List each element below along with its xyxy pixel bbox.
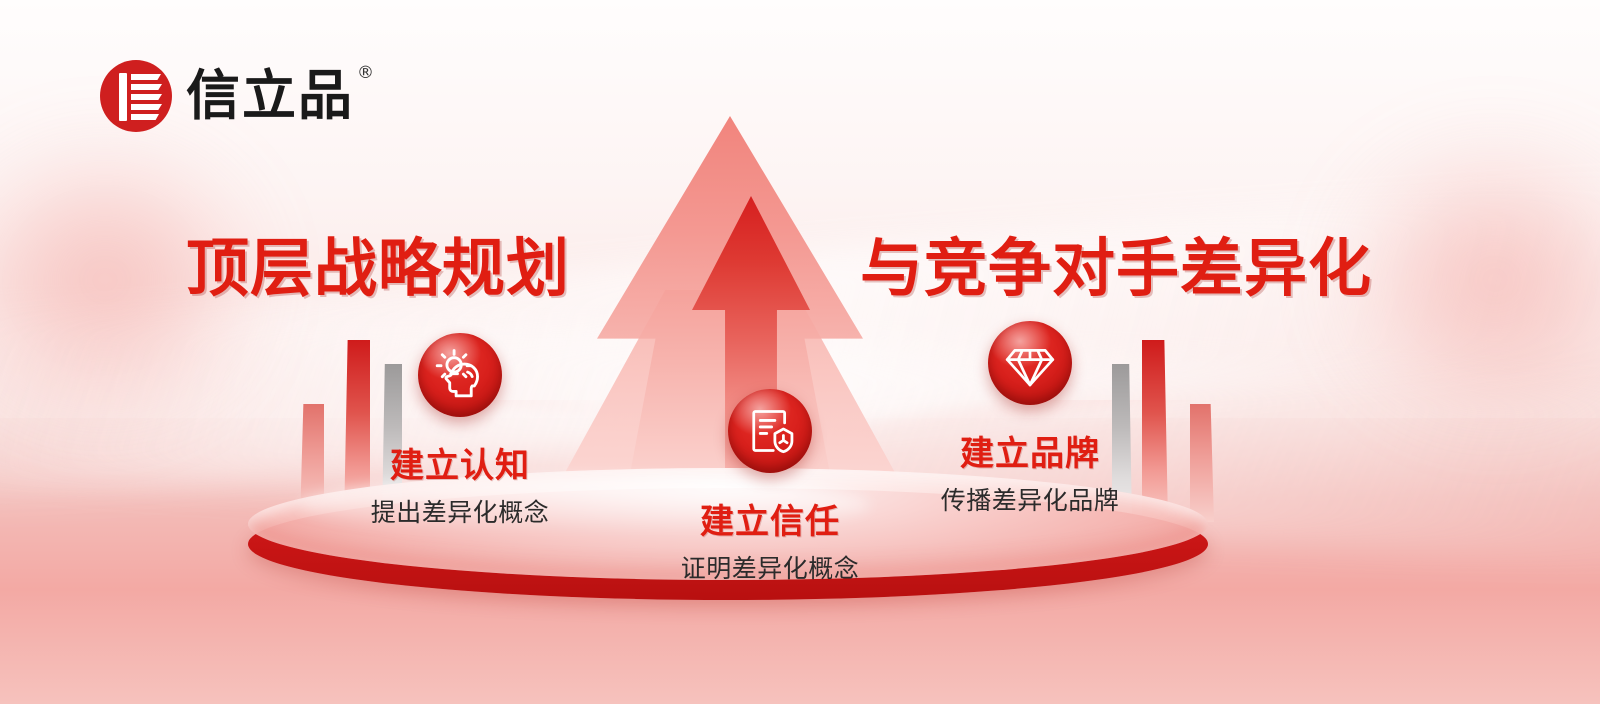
icon-badge — [407, 322, 513, 428]
document-shield-icon — [728, 389, 812, 473]
brand-logo[interactable]: 信立品 ® — [100, 60, 354, 132]
xinlipin-circle-logo-icon — [100, 60, 172, 132]
lightbulb-head-icon — [418, 333, 502, 417]
pillar-title: 建立认知 — [295, 438, 625, 487]
icon-badge — [977, 310, 1083, 416]
pillar-subtitle: 证明差异化概念 — [605, 549, 935, 585]
icon-badge — [717, 378, 823, 484]
diamond-icon — [988, 321, 1072, 405]
brand-wordmark-text: 信立品 — [186, 64, 354, 127]
pillar-title: 建立品牌 — [865, 426, 1195, 475]
pillar-subtitle: 提出差异化概念 — [295, 493, 625, 529]
headline-right: 与竞争对手差异化 — [860, 218, 1372, 309]
brand-wordmark: 信立品 ® — [186, 69, 354, 123]
pillar-build-brand[interactable]: 建立品牌 传播差异化品牌 — [865, 310, 1195, 517]
pillar-subtitle: 传播差异化品牌 — [865, 481, 1195, 517]
headline-left: 顶层战略规划 — [186, 218, 570, 309]
pillar-build-awareness[interactable]: 建立认知 提出差异化概念 — [295, 322, 625, 529]
poster-canvas: 信立品 ® 顶层战略规划 与竞争对手差异化 建立认知 提出差异化概念 — [0, 0, 1600, 704]
registered-trademark-icon: ® — [357, 65, 376, 82]
